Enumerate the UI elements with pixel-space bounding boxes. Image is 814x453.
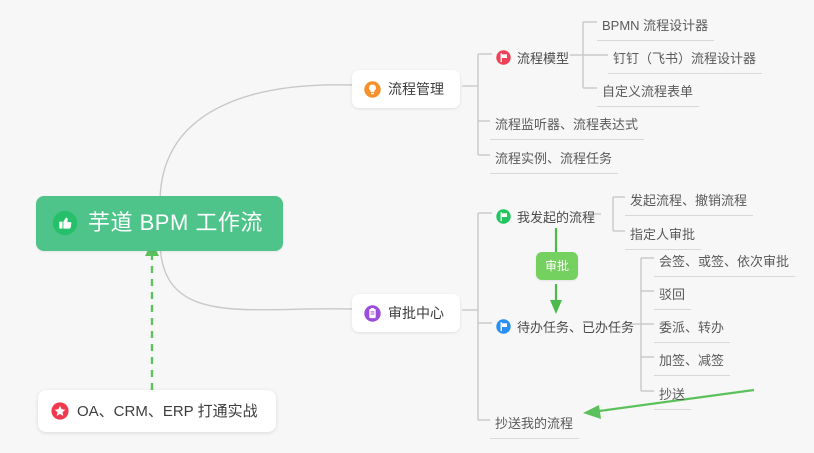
sub-node-todo-done-tasks[interactable]: 待办任务、已办任务	[492, 312, 642, 341]
leaf-label: 加签、减签	[659, 353, 724, 368]
leaf-node-instance-task[interactable]: 流程实例、流程任务	[490, 143, 618, 174]
leaf-node-add-remove-sign[interactable]: 加签、减签	[654, 345, 730, 376]
root-node[interactable]: 芋道 BPM 工作流	[36, 196, 283, 251]
sub-label-process-model: 流程模型	[517, 48, 569, 67]
floating-note-label: OA、CRM、ERP 打通实战	[77, 400, 258, 421]
approval-flow-tag-label: 审批	[545, 259, 569, 273]
branch-label-approval-center: 审批中心	[388, 303, 444, 323]
sub-label-my-started-processes: 我发起的流程	[517, 207, 595, 226]
leaf-node-start-cancel-process[interactable]: 发起流程、撤销流程	[625, 185, 753, 216]
leaf-node-delegate-transfer[interactable]: 委派、转办	[654, 312, 730, 343]
leaf-label: 抄送我的流程	[495, 416, 573, 431]
leaf-label: BPMN 流程设计器	[602, 18, 708, 33]
leaf-label: 自定义流程表单	[602, 84, 693, 99]
thumbs-up-icon	[52, 210, 78, 236]
leaf-label: 指定人审批	[630, 227, 695, 242]
leaf-node-dingtalk-designer[interactable]: 钉钉（飞书）流程设计器	[608, 43, 762, 74]
mindmap-canvas: 芋道 BPM 工作流 流程管理 流程模型 BPMN 流程设计器 钉钉（飞书）流程…	[0, 0, 814, 453]
flag-icon	[496, 209, 511, 224]
leaf-label: 委派、转办	[659, 320, 724, 335]
leaf-node-custom-form[interactable]: 自定义流程表单	[597, 76, 699, 107]
leaf-label: 会签、或签、依次审批	[659, 254, 789, 269]
sub-label-todo-done-tasks: 待办任务、已办任务	[517, 317, 634, 336]
branch-node-process-management[interactable]: 流程管理	[352, 70, 460, 108]
floating-note-node[interactable]: OA、CRM、ERP 打通实战	[38, 390, 276, 432]
leaf-node-cc-to-me[interactable]: 抄送我的流程	[490, 408, 579, 439]
leaf-node-reject[interactable]: 驳回	[654, 279, 691, 310]
sub-node-process-model[interactable]: 流程模型	[492, 43, 577, 72]
sub-node-my-started-processes[interactable]: 我发起的流程	[492, 202, 603, 231]
branch-label-process-management: 流程管理	[388, 79, 444, 99]
clipboard-icon	[364, 305, 381, 322]
cc-link-arrowhead	[583, 405, 601, 419]
approval-flow-tag[interactable]: 审批	[536, 252, 578, 280]
flag-icon	[496, 50, 511, 65]
leaf-label: 钉钉（飞书）流程设计器	[613, 51, 756, 66]
lightbulb-icon	[364, 81, 381, 98]
leaf-label: 抄送	[659, 387, 685, 402]
star-icon	[51, 402, 69, 420]
leaf-label: 流程实例、流程任务	[495, 151, 612, 166]
leaf-node-cc[interactable]: 抄送	[654, 379, 691, 410]
leaf-label: 发起流程、撤销流程	[630, 193, 747, 208]
leaf-label: 驳回	[659, 287, 685, 302]
leaf-node-listener-expression[interactable]: 流程监听器、流程表达式	[490, 109, 644, 140]
flag-icon	[496, 319, 511, 334]
branch-node-approval-center[interactable]: 审批中心	[352, 294, 460, 332]
root-label: 芋道 BPM 工作流	[88, 212, 263, 234]
leaf-node-countersign[interactable]: 会签、或签、依次审批	[654, 246, 795, 277]
leaf-node-bpmn-designer[interactable]: BPMN 流程设计器	[597, 10, 714, 41]
link-root-to-process-management	[160, 85, 352, 203]
leaf-label: 流程监听器、流程表达式	[495, 117, 638, 132]
